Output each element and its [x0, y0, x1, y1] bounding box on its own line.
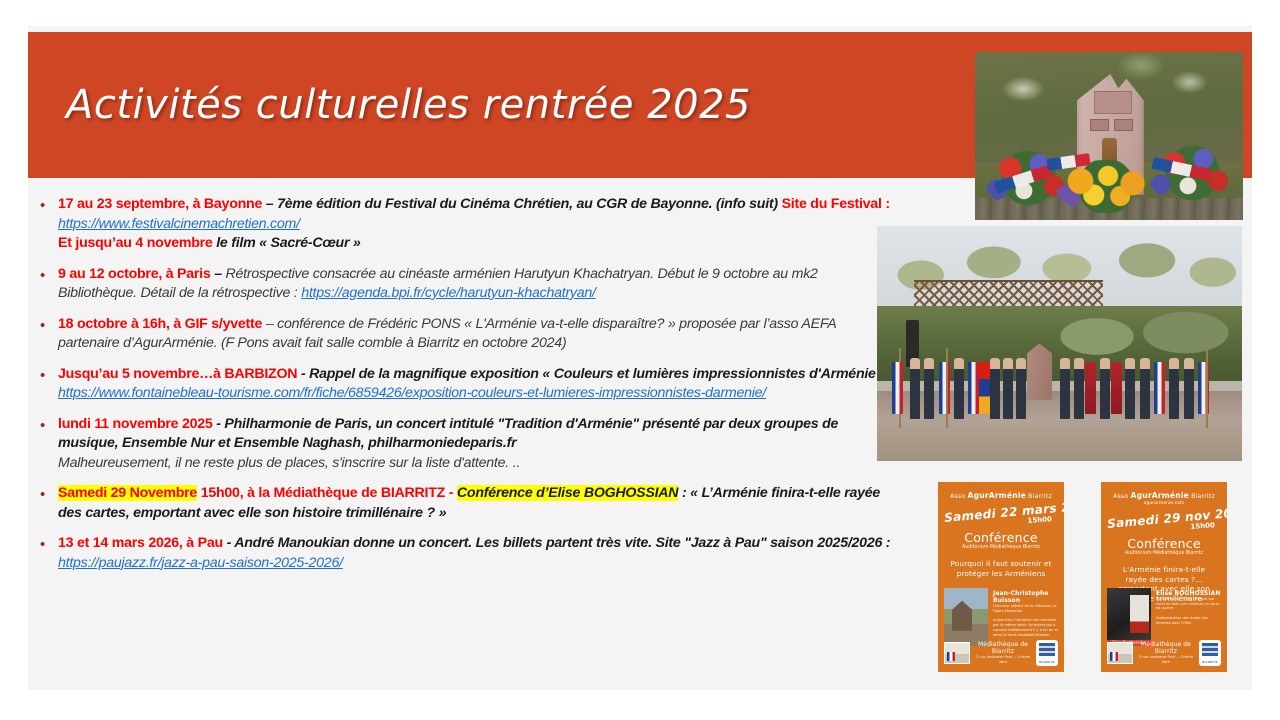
poster-november-2025[interactable]: Asso AgurArménie Biarritz agurarmenie.co…	[1101, 482, 1227, 672]
text-run: Malheureusement, il ne reste plus de pla…	[58, 455, 520, 471]
french-flag-icon	[968, 362, 979, 414]
attendee-figure	[1169, 358, 1179, 419]
bullet-festival-cinema-chretien: •17 au 23 septembre, à Bayonne – 7ème éd…	[40, 195, 900, 254]
attendee-figure	[1100, 358, 1110, 419]
attendee-figure	[1016, 358, 1026, 419]
poster-asso-city: Biarritz	[1189, 493, 1215, 500]
attendee-figure	[924, 358, 934, 419]
flag-pole-icon	[1206, 348, 1208, 428]
attendee-figure	[1074, 358, 1084, 419]
poster-footer: Médiathèque de Biarritz 2 rue Ambroise P…	[944, 640, 1058, 666]
poster-speaker-block: Jean-Christophe Buisson Directeur adjoin…	[993, 588, 1058, 648]
poster-footer-venue: Médiathèque de Biarritz	[1138, 641, 1194, 655]
flag-pole-icon	[946, 348, 948, 428]
page-title: Activités culturelles rentrée 2025	[66, 82, 926, 128]
city-logo-label: BIARRITZ	[1199, 660, 1221, 664]
attendee-figure	[1060, 358, 1070, 419]
poster-speaker-body: Aujourd'hui l'Arménie est menacée par le…	[993, 618, 1058, 637]
text-run: 9 au 12 octobre, à Paris	[58, 266, 214, 282]
poster-venue-line: Auditorium Médiathèque Biarritz	[944, 545, 1058, 551]
attendee-figure	[954, 358, 964, 419]
city-logo-label: BIARRITZ	[1036, 660, 1058, 664]
french-flag-icon	[1154, 362, 1165, 414]
poster-footer-address: 2 rue Ambroise Paré — Entrée libre	[975, 655, 1031, 664]
external-link[interactable]: https://www.fontainebleau-tourisme.com/f…	[58, 385, 766, 401]
attendee-figure	[910, 358, 920, 419]
poster-conference-label: Conférence	[1107, 536, 1221, 551]
french-flag-icon	[939, 362, 950, 414]
bullet-dot-icon: •	[40, 415, 58, 435]
text-run: 13 et 14 mars 2026, à Pau	[58, 535, 227, 551]
bullet-exposition-barbizon: •Jusqu’au 5 novembre…à BARBIZON - Rappel…	[40, 365, 900, 404]
attendee-figure	[1140, 358, 1150, 419]
mediatheque-logo-icon	[1107, 642, 1133, 664]
bullet-text: lundi 11 novembre 2025 - Philharmonie de…	[58, 415, 900, 474]
attendee-figure	[1003, 358, 1013, 419]
bullet-text: Jusqu’au 5 novembre…à BARBIZON - Rappel …	[58, 365, 900, 404]
poster-speaker-role: Fondatrice de l'ONG Eliseare qui vient e…	[1156, 597, 1221, 611]
poster-asso-name: AgurArménie	[1131, 491, 1190, 500]
poster-speaker-block: Elise BOGHOSSIAN Fondatrice de l'ONG Eli…	[1156, 588, 1221, 648]
poster-footer-text: Médiathèque de Biarritz 2 rue Ambroise P…	[1138, 641, 1194, 664]
french-flag-icon	[1198, 362, 1209, 414]
bullet-dot-icon: •	[40, 534, 58, 554]
mediatheque-logo-icon	[944, 642, 970, 664]
photo-ceremony	[877, 226, 1242, 461]
bullet-text: 9 au 12 octobre, à Paris – Rétrospective…	[58, 265, 900, 304]
slide-canvas: Activités culturelles rentrée 2025 •17 a…	[0, 0, 1280, 720]
text-run: 15h00, à la Médiathèque de BIARRITZ -	[197, 485, 457, 501]
text-run: –	[214, 266, 225, 282]
bullet-text: Samedi 29 Novembre 15h00, à la Médiathèq…	[58, 484, 900, 523]
attendee-figure	[1184, 358, 1194, 419]
poster-speaker-body: Ambassadrice des droits des femmes pour …	[1156, 616, 1221, 626]
french-flag-icon	[892, 362, 903, 414]
poster-asso-line: Asso AgurArménie Biarritz	[1107, 492, 1221, 501]
poster-photo: Elise Boghossian	[1107, 588, 1151, 646]
bullet-text: 13 et 14 mars 2026, à Pau - André Manouk…	[58, 534, 900, 573]
poster-asso-city: Biarritz	[1026, 493, 1052, 500]
external-link[interactable]: https://agenda.bpi.fr/cycle/harutyun-kha…	[301, 285, 596, 301]
armenian-flag-icon	[979, 362, 990, 414]
text-run: 17 au 23 septembre, à Bayonne	[58, 196, 266, 212]
poster-footer-text: Médiathèque de Biarritz 2 rue Ambroise P…	[975, 641, 1031, 664]
attendee-figure	[990, 358, 1000, 419]
poster-asso-line: Asso AgurArménie Biarritz	[944, 492, 1058, 501]
ceremony-stele-icon	[1027, 344, 1053, 400]
external-link[interactable]: https://www.festivalcinemachretien.com/	[58, 216, 300, 232]
poster-asso-prefix: Asso	[950, 493, 967, 500]
poster-footer-venue: Médiathèque de Biarritz	[975, 641, 1031, 655]
text-run: 18 octobre à 16h, à GIF s/yvette	[58, 316, 266, 332]
bullet-retrospective-paris: • 9 au 12 octobre, à Paris – Rétrospecti…	[40, 265, 900, 304]
poster-site: agurarmenie.com	[1107, 501, 1221, 507]
external-link[interactable]: https://paujazz.fr/jazz-a-pau-saison-202…	[58, 555, 343, 571]
bullet-conference-gif-sur-yvette: •18 octobre à 16h, à GIF s/yvette – conf…	[40, 315, 900, 354]
wreath-center-icon	[1055, 160, 1157, 214]
poster-footer-address: 2 rue Ambroise Paré — Entrée libre	[1138, 655, 1194, 664]
poster-venue-line: Auditorium Médiathèque Biarritz	[1107, 551, 1221, 557]
text-run: - Rappel de la magnifique exposition « C…	[301, 366, 895, 382]
poster-footer: Médiathèque de Biarritz 2 rue Ambroise P…	[1107, 640, 1221, 666]
bullet-text: 17 au 23 septembre, à Bayonne – 7ème édi…	[58, 195, 900, 254]
bullet-dot-icon: •	[40, 365, 58, 385]
text-run: Samedi 29 Novembre	[58, 485, 197, 501]
poster-theme: Pourquoi il faut soutenir et protéger le…	[948, 559, 1054, 578]
bullet-conference-biarritz-boghossian: •Samedi 29 Novembre 15h00, à la Médiathè…	[40, 484, 900, 523]
city-logo-icon: BIARRITZ	[1199, 640, 1221, 666]
poster-march-2025[interactable]: Asso AgurArménie Biarritz Samedi 22 mars…	[938, 482, 1064, 672]
attendee-figure	[1125, 358, 1135, 419]
memorial-plaque-left-icon	[1090, 119, 1109, 131]
poster-speaker-name: Elise BOGHOSSIAN	[1156, 590, 1221, 597]
bullet-dot-icon: •	[40, 484, 58, 504]
memorial-plaque-right-icon	[1114, 119, 1133, 131]
text-run: Site du Festival :	[782, 196, 890, 212]
bullet-philharmonie-paris: •lundi 11 novembre 2025 - Philharmonie d…	[40, 415, 900, 474]
bullet-concert-pau-manoukian: •13 et 14 mars 2026, à Pau - André Manou…	[40, 534, 900, 573]
standard-flag-icon	[1111, 362, 1122, 414]
poster-asso-prefix: Asso	[1113, 493, 1130, 500]
poster-speaker-role: Directeur adjoint de la rédaction Le Fig…	[993, 604, 1058, 613]
bullet-text: 18 octobre à 16h, à GIF s/yvette – confé…	[58, 315, 900, 354]
text-run: le film « Sacré-Cœur »	[216, 235, 360, 251]
poster-asso-name: AgurArménie	[968, 491, 1027, 500]
text-run: lundi 11 novembre 2025	[58, 416, 216, 432]
bullet-dot-icon: •	[40, 195, 58, 215]
text-run: Jusqu’au 5 novembre…à BARBIZON	[58, 366, 301, 382]
standard-flag-icon	[1085, 362, 1096, 414]
activities-list: •17 au 23 septembre, à Bayonne – 7ème éd…	[40, 195, 900, 584]
bullet-dot-icon: •	[40, 265, 58, 285]
poster-photo	[944, 588, 988, 646]
text-run: – 7ème édition du Festival du Cinéma Chr…	[266, 196, 782, 212]
bullet-dot-icon: •	[40, 315, 58, 335]
text-run: Et jusqu’au 4 novembre	[58, 235, 216, 251]
poster-speaker-name: Jean-Christophe Buisson	[993, 590, 1058, 604]
text-run: Conférence d’Elise BOGHOSSIAN	[457, 485, 678, 501]
text-run: - André Manoukian donne un concert. Les …	[227, 535, 891, 551]
poster-conference-label: Conférence	[944, 530, 1058, 545]
city-logo-icon: BIARRITZ	[1036, 640, 1058, 666]
photo-memorial-stele	[975, 52, 1243, 220]
memorial-plaque-icon	[1094, 91, 1132, 115]
